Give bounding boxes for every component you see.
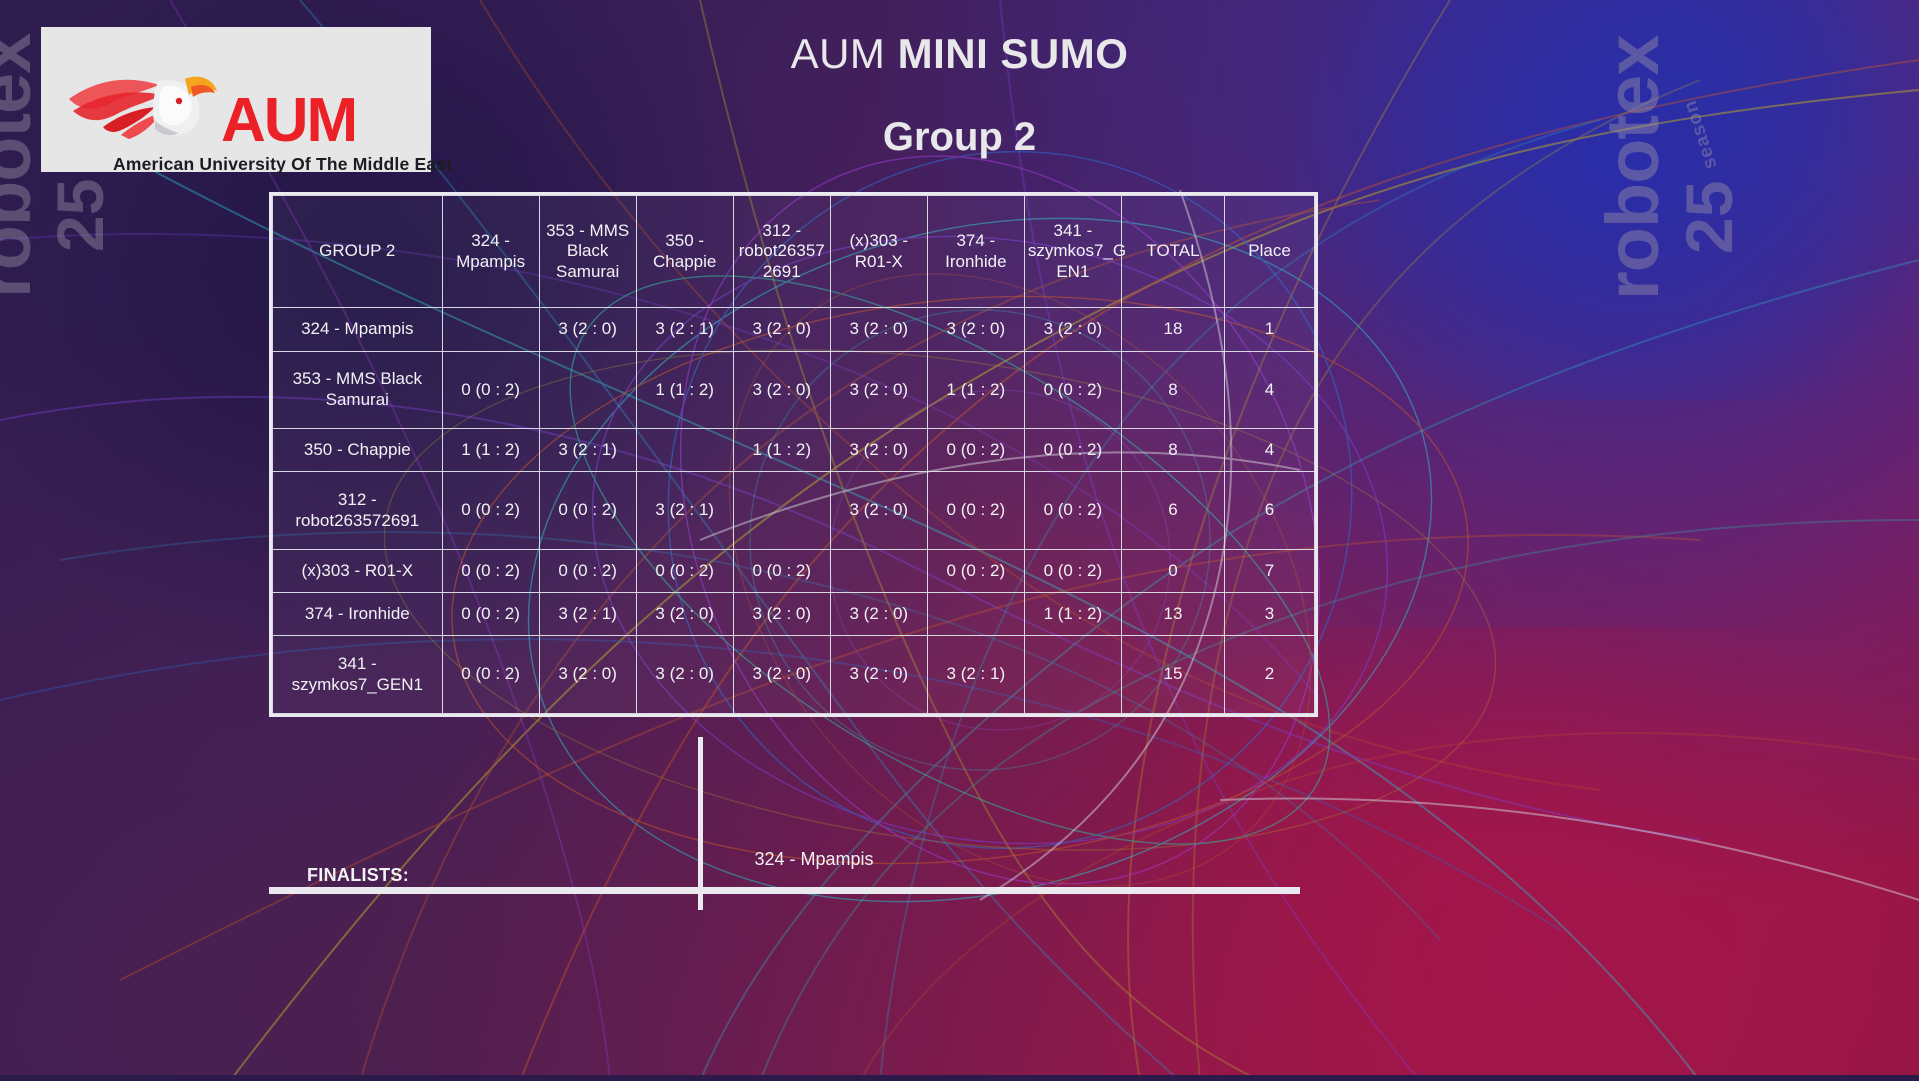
column-header-place: Place (1225, 196, 1315, 308)
row-team-label: 353 - MMS Black Samurai (273, 351, 443, 429)
table-row: (x)303 - R01-X0 (0 : 2)0 (0 : 2)0 (0 : 2… (273, 550, 1315, 593)
match-cell: 3 (2 : 1) (636, 472, 733, 550)
row-place: 4 (1225, 429, 1315, 472)
match-cell: 0 (0 : 2) (539, 472, 636, 550)
match-cell: 1 (1 : 2) (927, 351, 1024, 429)
row-total: 18 (1121, 308, 1224, 351)
table-row: 374 - Ironhide0 (0 : 2)3 (2 : 1)3 (2 : 0… (273, 593, 1315, 636)
table-header-row: GROUP 2324 - Mpampis353 - MMS Black Samu… (273, 196, 1315, 308)
row-team-label: 374 - Ironhide (273, 593, 443, 636)
finalists-divider (698, 737, 703, 910)
row-place: 2 (1225, 636, 1315, 714)
column-header-3: 350 - Chappie (636, 196, 733, 308)
column-header-5: (x)303 - R01-X (830, 196, 927, 308)
row-total: 15 (1121, 636, 1224, 714)
match-cell: 1 (1 : 2) (733, 429, 830, 472)
match-cell: 0 (0 : 2) (442, 593, 539, 636)
match-cell-self (636, 429, 733, 472)
row-team-label: 312 - robot263572691 (273, 472, 443, 550)
match-cell: 0 (0 : 2) (1024, 550, 1121, 593)
match-cell: 0 (0 : 2) (442, 351, 539, 429)
match-cell-self (733, 472, 830, 550)
row-place: 6 (1225, 472, 1315, 550)
match-cell: 0 (0 : 2) (442, 472, 539, 550)
match-cell: 3 (2 : 0) (830, 351, 927, 429)
standings-table: GROUP 2324 - Mpampis353 - MMS Black Samu… (269, 192, 1318, 717)
table-row: 312 - robot2635726910 (0 : 2)0 (0 : 2)3 … (273, 472, 1315, 550)
row-place: 7 (1225, 550, 1315, 593)
column-header-7: 341 - szymkos7_G EN1 (1024, 196, 1121, 308)
match-cell: 3 (2 : 1) (539, 593, 636, 636)
match-cell: 3 (2 : 1) (927, 636, 1024, 714)
page-title: AUM MINI SUMO (0, 30, 1919, 78)
title-part-minisumo: MINI SUMO (898, 30, 1129, 77)
match-cell: 3 (2 : 0) (636, 636, 733, 714)
match-cell: 3 (2 : 0) (539, 308, 636, 351)
row-place: 3 (1225, 593, 1315, 636)
column-header-6: 374 - Ironhide (927, 196, 1024, 308)
match-cell: 3 (2 : 0) (733, 351, 830, 429)
match-cell: 1 (1 : 2) (442, 429, 539, 472)
match-cell: 0 (0 : 2) (636, 550, 733, 593)
match-cell: 0 (0 : 2) (927, 550, 1024, 593)
row-total: 6 (1121, 472, 1224, 550)
match-cell: 3 (2 : 0) (830, 308, 927, 351)
table-row: 341 - szymkos7_GEN10 (0 : 2)3 (2 : 0)3 (… (273, 636, 1315, 714)
row-team-label: 341 - szymkos7_GEN1 (273, 636, 443, 714)
column-header-2: 353 - MMS Black Samurai (539, 196, 636, 308)
match-cell: 3 (2 : 1) (636, 308, 733, 351)
row-place: 4 (1225, 351, 1315, 429)
match-cell: 0 (0 : 2) (927, 429, 1024, 472)
finalists-rule (269, 887, 1300, 894)
row-total: 8 (1121, 351, 1224, 429)
table-corner-label: GROUP 2 (273, 196, 443, 308)
match-cell: 3 (2 : 0) (539, 636, 636, 714)
match-cell: 1 (1 : 2) (636, 351, 733, 429)
match-cell: 3 (2 : 0) (636, 593, 733, 636)
row-total: 8 (1121, 429, 1224, 472)
match-cell: 3 (2 : 0) (927, 308, 1024, 351)
row-team-label: 350 - Chappie (273, 429, 443, 472)
match-cell: 0 (0 : 2) (539, 550, 636, 593)
match-cell: 3 (2 : 0) (733, 308, 830, 351)
table-row: 324 - Mpampis3 (2 : 0)3 (2 : 1)3 (2 : 0)… (273, 308, 1315, 351)
match-cell: 3 (2 : 1) (539, 429, 636, 472)
match-cell: 3 (2 : 0) (830, 593, 927, 636)
table-row: 350 - Chappie1 (1 : 2)3 (2 : 1)1 (1 : 2)… (273, 429, 1315, 472)
row-team-label: (x)303 - R01-X (273, 550, 443, 593)
match-cell: 0 (0 : 2) (927, 472, 1024, 550)
match-cell: 0 (0 : 2) (442, 550, 539, 593)
finalists-section: FINALISTS: 324 - Mpampis (269, 823, 1318, 918)
match-cell-self (830, 550, 927, 593)
row-team-label: 324 - Mpampis (273, 308, 443, 351)
match-cell: 0 (0 : 2) (733, 550, 830, 593)
match-cell: 3 (2 : 0) (1024, 308, 1121, 351)
finalist-name: 324 - Mpampis (724, 843, 904, 875)
finalists-label: FINALISTS: (307, 865, 409, 886)
match-cell: 0 (0 : 2) (1024, 472, 1121, 550)
match-cell: 0 (0 : 2) (1024, 429, 1121, 472)
match-cell: 3 (2 : 0) (830, 636, 927, 714)
match-cell-self (539, 351, 636, 429)
match-cell-self (1024, 636, 1121, 714)
table-row: 353 - MMS Black Samurai0 (0 : 2)1 (1 : 2… (273, 351, 1315, 429)
column-header-4: 312 - robot26357 2691 (733, 196, 830, 308)
title-part-aum: AUM (791, 30, 898, 77)
match-cell: 1 (1 : 2) (1024, 593, 1121, 636)
row-total: 13 (1121, 593, 1224, 636)
match-cell: 0 (0 : 2) (442, 636, 539, 714)
column-header-total: TOTAL (1121, 196, 1224, 308)
match-cell-self (927, 593, 1024, 636)
match-cell: 3 (2 : 0) (733, 593, 830, 636)
column-header-1: 324 - Mpampis (442, 196, 539, 308)
row-total: 0 (1121, 550, 1224, 593)
match-cell: 3 (2 : 0) (733, 636, 830, 714)
match-cell: 3 (2 : 0) (830, 472, 927, 550)
match-cell: 3 (2 : 0) (830, 429, 927, 472)
page-subtitle: Group 2 (0, 115, 1919, 160)
match-cell: 0 (0 : 2) (1024, 351, 1121, 429)
match-cell-self (442, 308, 539, 351)
row-place: 1 (1225, 308, 1315, 351)
bottom-bar (0, 1075, 1919, 1081)
